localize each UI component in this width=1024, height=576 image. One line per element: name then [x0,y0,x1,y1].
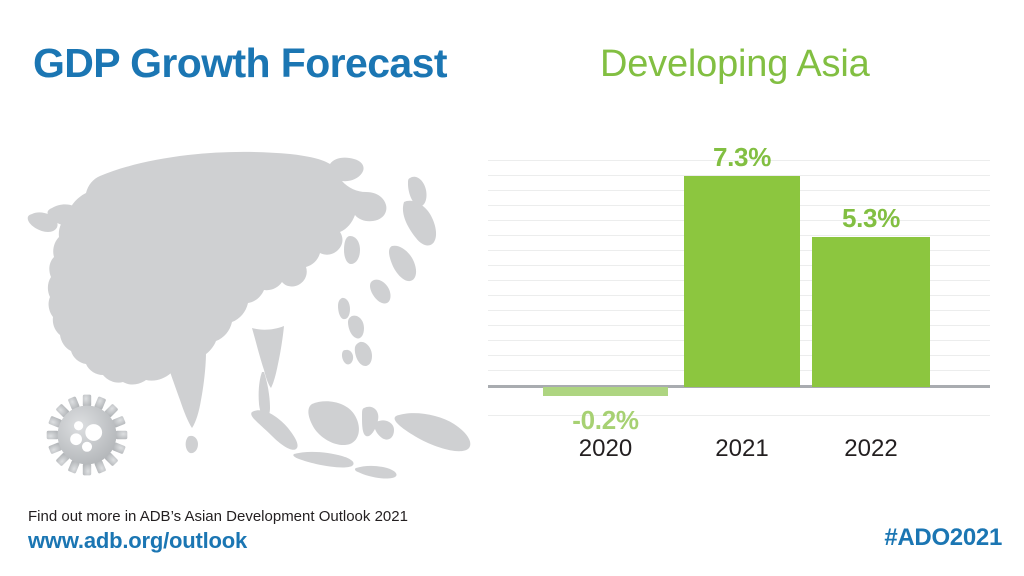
footer-url-link[interactable]: www.adb.org/outlook [28,528,247,554]
coronavirus-icon [45,393,129,477]
coronavirus-glyph [45,393,129,477]
page-title: GDP Growth Forecast [33,40,447,87]
chart-labels: -0.2% 7.3% 5.3% 2020 2021 2022 [488,130,998,470]
category-label-2021: 2021 [684,435,800,463]
hashtag-label: #ADO2021 [884,524,1002,552]
value-label-2021: 7.3% [684,142,800,173]
value-label-2022: 5.3% [812,203,930,234]
value-label-2020: -0.2% [543,405,668,436]
chart-title: Developing Asia [600,43,870,86]
category-label-2020: 2020 [543,435,668,463]
category-label-2022: 2022 [812,435,930,463]
footer-note: Find out more in ADB’s Asian Development… [28,508,408,525]
gdp-bar-chart: -0.2% 7.3% 5.3% 2020 2021 2022 [488,130,998,470]
infographic-canvas: GDP Growth Forecast Developing Asia [0,0,1024,576]
